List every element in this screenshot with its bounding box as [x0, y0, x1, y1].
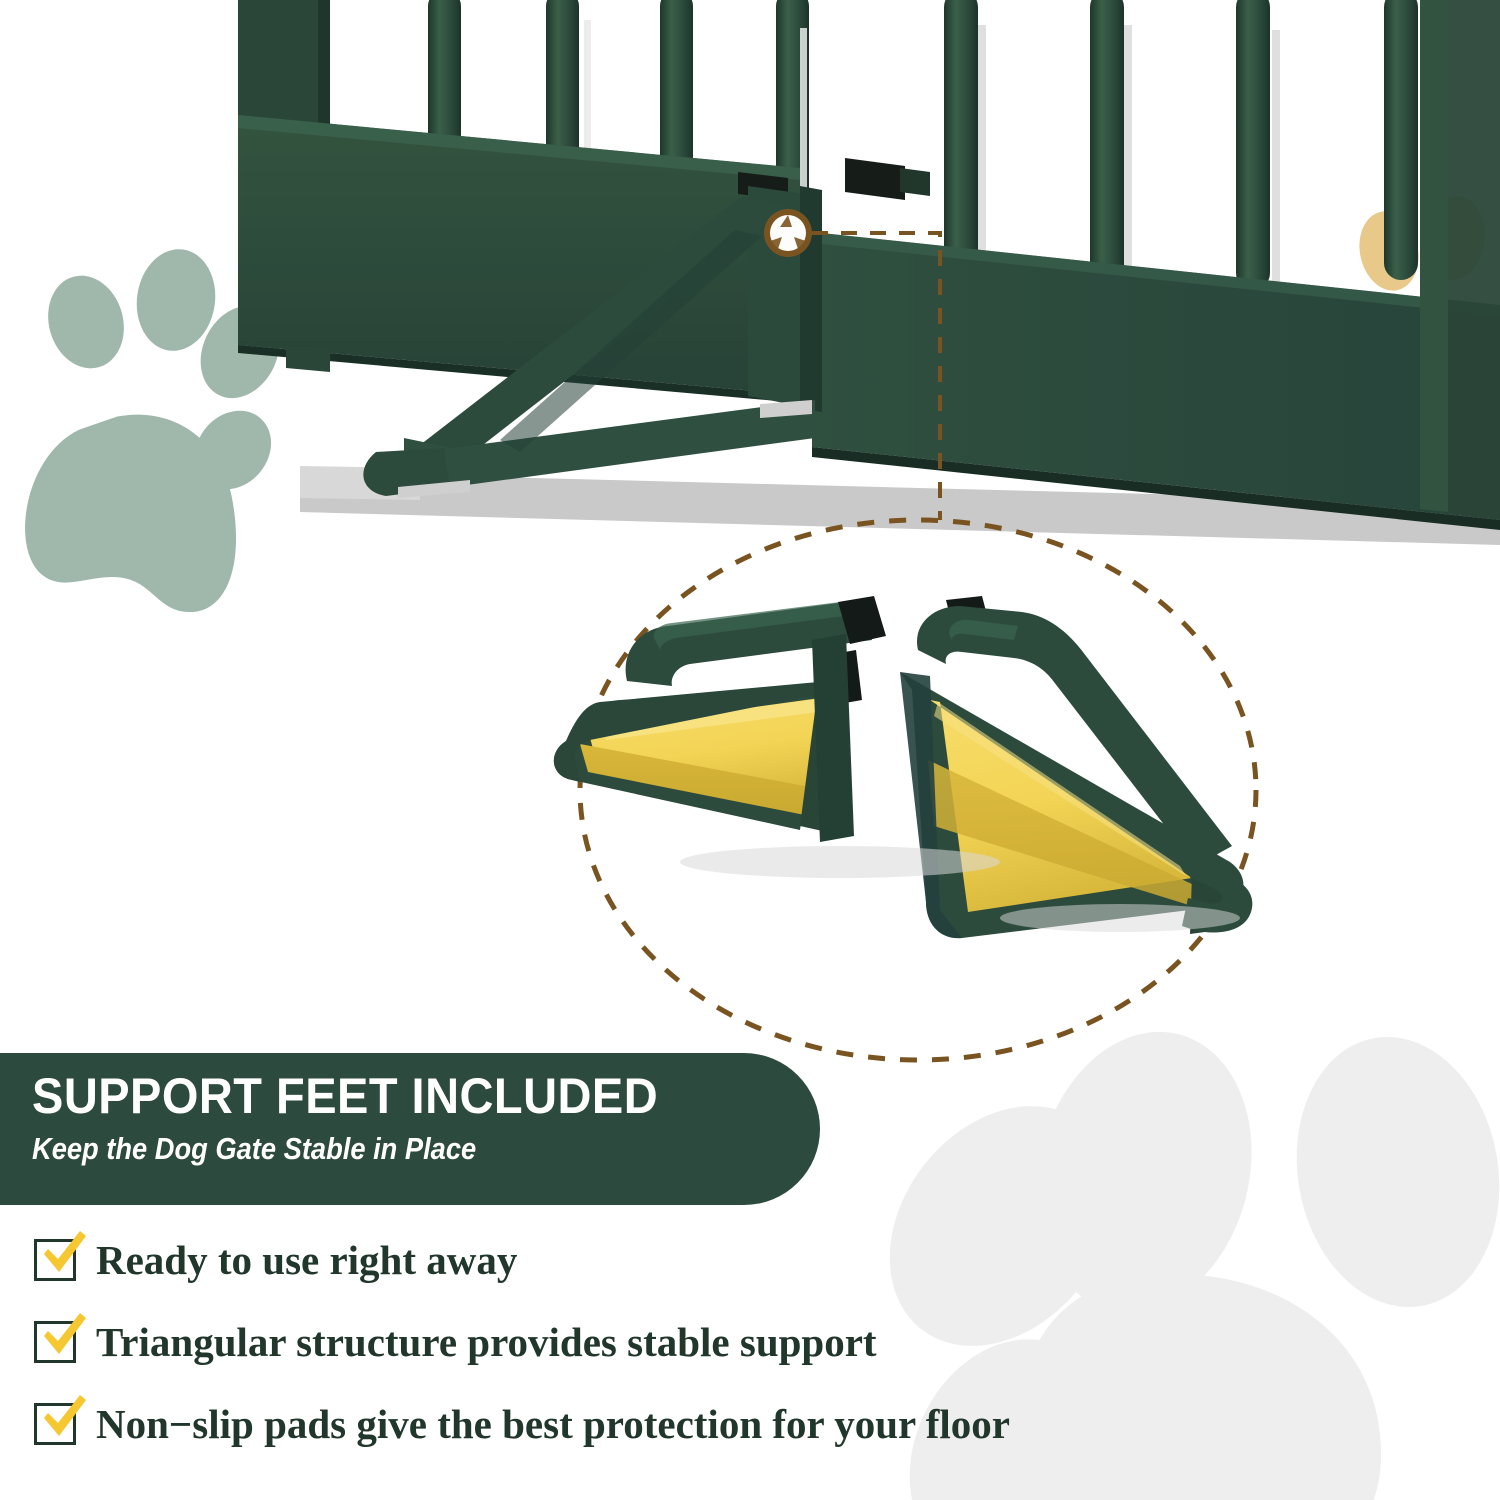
hinge-pivot-callout-point [764, 209, 812, 257]
list-item-label: Ready to use right away [96, 1237, 517, 1283]
banner-title: SUPPORT FEET INCLUDED [32, 1067, 773, 1125]
checkbox-checked-icon [34, 1321, 76, 1363]
list-item: Triangular structure provides stable sup… [34, 1310, 1464, 1374]
feature-list: Ready to use right away Triangular struc… [34, 1228, 1464, 1474]
support-feet-detail [554, 596, 1253, 938]
list-item: Non−slip pads give the best protection f… [34, 1392, 1464, 1456]
feature-banner: SUPPORT FEET INCLUDED Keep the Dog Gate … [0, 1053, 820, 1205]
list-item-label: Triangular structure provides stable sup… [96, 1319, 877, 1365]
list-item-label: Non−slip pads give the best protection f… [96, 1401, 1010, 1447]
checkbox-checked-icon [34, 1403, 76, 1445]
list-item: Ready to use right away [34, 1228, 1464, 1292]
product-infographic: SUPPORT FEET INCLUDED Keep the Dog Gate … [0, 0, 1500, 1500]
checkbox-checked-icon [34, 1239, 76, 1281]
banner-subtitle: Keep the Dog Gate Stable in Place [32, 1129, 725, 1169]
